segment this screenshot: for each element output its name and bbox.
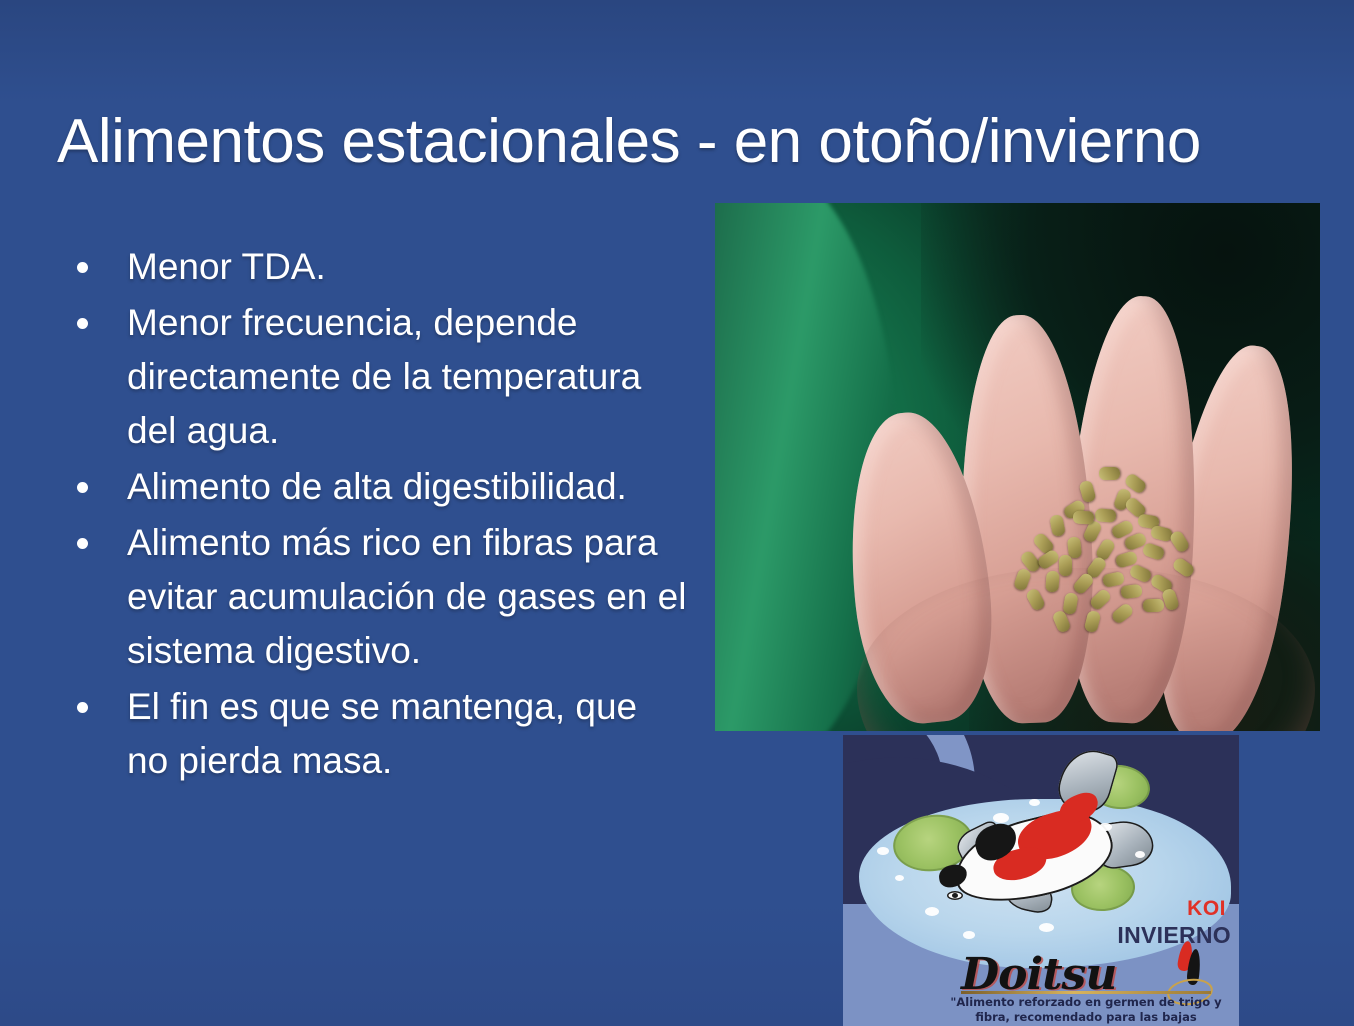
koi-fish-icon (901, 765, 1161, 935)
food-pellet (1128, 563, 1153, 584)
bubble-icon (925, 907, 939, 916)
list-item: Menor frecuencia, depende directamente d… (62, 296, 687, 458)
food-pellet (1102, 571, 1125, 588)
food-pellet (1036, 548, 1061, 571)
page-title: Alimentos estacionales - en otoño/invier… (57, 106, 1297, 178)
logo-koi-label: KOI (1187, 897, 1226, 921)
bullet-point-icon (77, 702, 88, 713)
food-pellet (1168, 529, 1190, 554)
bubble-icon (1029, 799, 1040, 806)
food-pellet (1067, 536, 1082, 558)
food-pellet (1094, 508, 1116, 523)
bullet-point-icon (77, 482, 88, 493)
bubble-icon (877, 847, 889, 855)
list-item: Alimento de alta digestibilidad. (62, 460, 687, 514)
bubble-icon (993, 813, 1009, 823)
bubble-icon (1099, 823, 1112, 831)
food-pellet (1089, 587, 1113, 611)
bullet-list: Menor TDA. Menor frecuencia, depende dir… (62, 240, 687, 790)
presentation-slide: Alimentos estacionales - en otoño/invier… (0, 0, 1354, 1026)
food-pellet (1072, 510, 1094, 524)
food-pellet (1171, 556, 1196, 579)
bubble-icon (963, 931, 975, 939)
food-pellet (1013, 567, 1032, 591)
food-pellet (1141, 541, 1165, 560)
food-pellet (1083, 609, 1101, 633)
brand-tagline: "Alimento reforzado en germen de trigo y… (943, 995, 1229, 1026)
list-item-label: El fin es que se mantenga, que no pierda… (127, 686, 637, 781)
food-pellet (1062, 592, 1078, 615)
food-pellet (1110, 601, 1135, 624)
list-item-label: Menor TDA. (127, 246, 326, 287)
food-pellet (1120, 583, 1142, 598)
food-pellet (1161, 587, 1180, 611)
food-pellets (1002, 461, 1221, 731)
bullet-point-icon (77, 262, 88, 273)
bullet-point-icon (77, 318, 88, 329)
food-pellet (1142, 598, 1163, 612)
food-pellet (1045, 570, 1059, 592)
list-item-label: Alimento de alta digestibilidad. (127, 466, 627, 507)
list-item-label: Menor frecuencia, depende directamente d… (127, 302, 641, 451)
food-pellet (1059, 555, 1072, 576)
food-pellet (1025, 587, 1046, 612)
koi-eye (947, 891, 963, 900)
food-pellet (1078, 479, 1096, 503)
bubble-icon (895, 875, 904, 881)
food-pellet (1099, 467, 1120, 480)
product-logo-panel: KOI INVIERNO Doitsu "Alimento reforzado … (843, 735, 1239, 1026)
list-item: Alimento más rico en fibras para evitar … (62, 516, 687, 678)
brand-underline (961, 991, 1211, 994)
list-item: Menor TDA. (62, 240, 687, 294)
bubble-icon (1135, 851, 1145, 858)
food-pellet (1049, 514, 1066, 537)
bubble-icon (1039, 923, 1054, 932)
list-item: El fin es que se mantenga, que no pierda… (62, 680, 687, 788)
bullet-point-icon (77, 538, 88, 549)
koi-food-photo (715, 203, 1320, 731)
list-item-label: Alimento más rico en fibras para evitar … (127, 522, 686, 671)
hand (836, 266, 1320, 731)
